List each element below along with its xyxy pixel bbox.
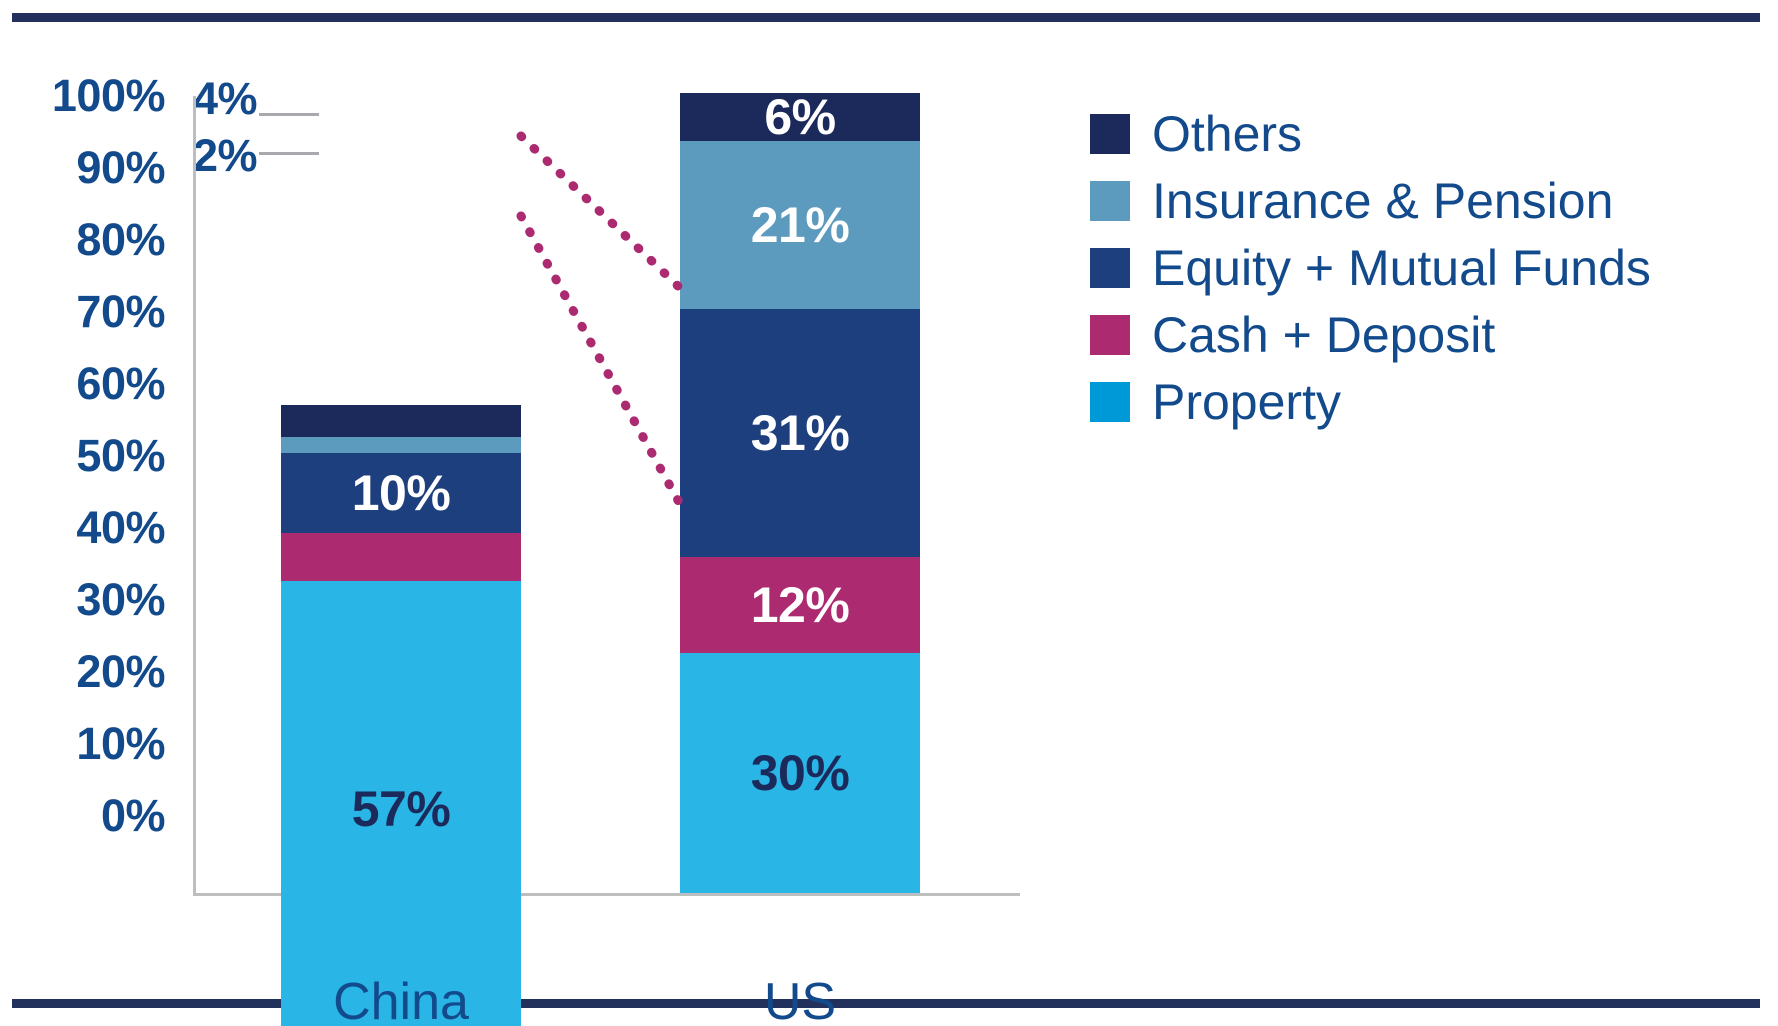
y-tick-60: 60% [0,361,165,406]
legend-item-label: Others [1152,109,1302,159]
legend-item-label: Cash + Deposit [1152,310,1495,360]
legend-item-equity-mutual-funds[interactable]: Equity + Mutual Funds [1090,234,1750,301]
segment-value: 21% [751,200,850,250]
legend-swatch-icon [1090,315,1130,355]
segment-value: 30% [751,748,850,798]
segment-china-equity[interactable]: 10% [281,453,521,533]
segment-us-insurance[interactable]: 21% [680,141,920,309]
y-tick-50: 50% [0,433,165,478]
legend-swatch-icon [1090,248,1130,288]
y-tick-90: 90% [0,145,165,190]
segment-us-others[interactable]: 6% [680,93,920,141]
segment-value: 12% [751,580,850,630]
y-axis-tick-labels: 100% 90% 80% 70% 60% 50% 40% 30% 20% 10%… [0,0,178,1026]
chart-canvas: 100% 90% 80% 70% 60% 50% 40% 30% 20% 10%… [0,0,1778,1026]
segment-value: 31% [751,408,850,458]
y-tick-80: 80% [0,217,165,262]
legend-item-insurance-pension[interactable]: Insurance & Pension [1090,167,1750,234]
legend-swatch-icon [1090,181,1130,221]
y-tick-0: 0% [0,793,165,838]
legend-item-cash-deposit[interactable]: Cash + Deposit [1090,301,1750,368]
segment-value: 57% [352,784,451,834]
y-axis-line [193,96,196,896]
legend-item-label: Insurance & Pension [1152,176,1613,226]
legend-swatch-icon [1090,114,1130,154]
segment-china-others[interactable]: 4% [281,405,521,437]
bar-china[interactable]: 4% 2% 10% 27% 57% [281,93,521,893]
segment-china-insurance[interactable]: 2% [281,437,521,453]
segment-china-property[interactable]: 57% [281,581,521,1026]
category-label-china: China [281,976,521,1026]
segment-us-equity[interactable]: 31% [680,309,920,557]
legend-item-property[interactable]: Property [1090,368,1750,435]
legend-item-label: Equity + Mutual Funds [1152,243,1651,293]
legend-item-others[interactable]: Others [1090,100,1750,167]
y-tick-10: 10% [0,721,165,766]
top-rule [12,13,1760,22]
y-tick-20: 20% [0,649,165,694]
legend: Others Insurance & Pension Equity + Mutu… [1090,100,1750,435]
segment-us-cash[interactable]: 12% [680,557,920,653]
segment-value: 6% [764,92,835,142]
y-tick-40: 40% [0,505,165,550]
category-label-us: US [680,976,920,1026]
y-tick-30: 30% [0,577,165,622]
plot-area: 4% 2% 10% 27% 57% 6% 21% 31% [193,96,1020,896]
legend-swatch-icon [1090,382,1130,422]
legend-item-label: Property [1152,377,1341,427]
segment-us-property[interactable]: 30% [680,653,920,893]
y-tick-70: 70% [0,289,165,334]
bar-us[interactable]: 6% 21% 31% 12% 30% [680,93,920,893]
y-tick-100: 100% [0,73,165,118]
segment-value: 10% [352,468,451,518]
